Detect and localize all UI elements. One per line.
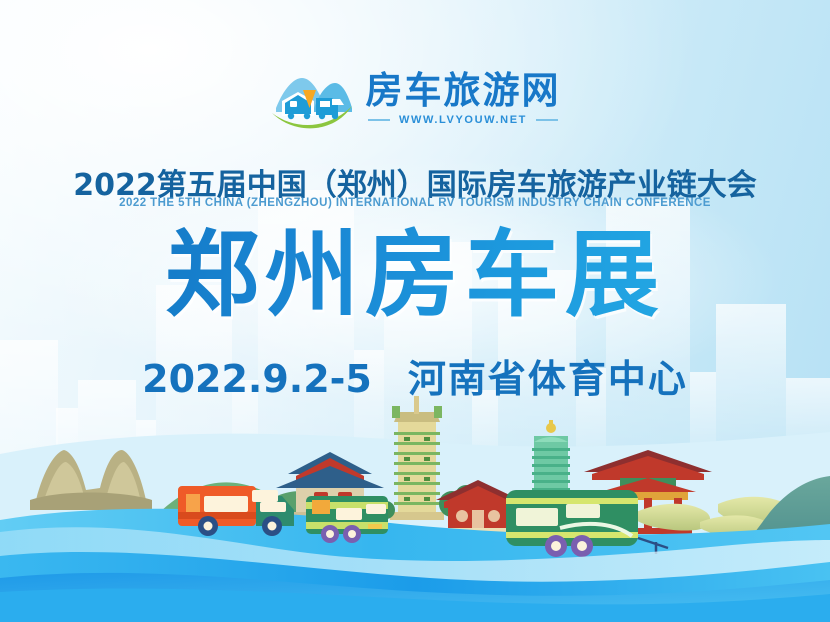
event-poster: 房车旅游网 WWW.LVYOUW.NET 2022第五届中国（郑州）国际房车旅游… (0, 0, 830, 622)
brand-url: WWW.LVYOUW.NET (399, 114, 527, 126)
brand-name: 房车旅游网 (366, 72, 561, 111)
page-title: 郑州房车展 (0, 225, 830, 327)
logo-text-block: 房车旅游网 WWW.LVYOUW.NET (366, 72, 561, 127)
brand-url-row: WWW.LVYOUW.NET (368, 114, 558, 126)
dash-left-icon (368, 119, 390, 121)
conference-title-en: 2022 THE 5TH CHINA (ZHENGZHOU) INTERNATI… (0, 197, 830, 209)
scenery-illustration (0, 392, 830, 622)
site-logo[interactable]: 房车旅游网 WWW.LVYOUW.NET (0, 68, 830, 130)
songyue-pagoda-icon (390, 396, 444, 520)
dash-right-icon (536, 119, 558, 121)
rv-mountain-logo-icon (270, 68, 356, 130)
